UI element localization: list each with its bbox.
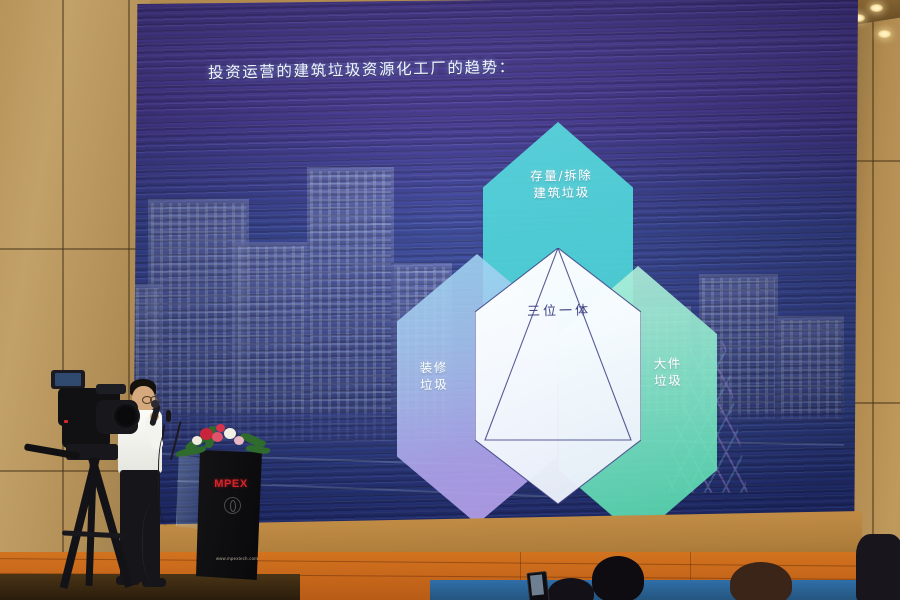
hexagon-top-label-line1: 存量/拆除 bbox=[530, 167, 592, 183]
camera-record-indicator bbox=[64, 420, 68, 423]
hexagon-diagram: 存量/拆除 建筑垃圾 装修 垃圾 大件 垃圾 三位一体 bbox=[391, 116, 721, 496]
hexagon-right-label-line1: 大件 bbox=[654, 356, 682, 371]
floor-cable bbox=[142, 500, 183, 586]
flower bbox=[200, 428, 213, 440]
photo-scene: 投资运营的建筑垃圾资源化工厂的趋势： 存量/拆除 建筑垃圾 装修 垃圾 bbox=[0, 0, 900, 600]
flower bbox=[192, 436, 202, 445]
podium-logo-icon bbox=[224, 497, 241, 514]
camera-lens bbox=[112, 402, 140, 430]
floor-carpet bbox=[430, 580, 900, 600]
gooseneck-mic-head bbox=[166, 410, 171, 422]
audience-head bbox=[548, 578, 594, 600]
smartphone-screen bbox=[530, 574, 544, 595]
audience-head bbox=[592, 556, 644, 600]
camera-viewfinder-screen bbox=[55, 373, 81, 386]
flower bbox=[234, 436, 244, 445]
flower bbox=[216, 424, 225, 432]
camera-handle bbox=[96, 384, 126, 394]
downlight-icon bbox=[870, 4, 883, 12]
flower bbox=[212, 432, 223, 442]
center-triangle-outline-icon bbox=[475, 248, 641, 504]
wall-seam bbox=[62, 0, 64, 600]
hexagon-left-label-line1: 装修 bbox=[420, 360, 448, 375]
building bbox=[778, 316, 843, 423]
downlight-icon bbox=[878, 30, 891, 38]
audience-head bbox=[730, 562, 792, 600]
microphone-head bbox=[151, 400, 159, 408]
wall-seam bbox=[872, 0, 874, 600]
hexagon-center-label: 三位一体 bbox=[499, 299, 619, 320]
hexagon-left-label-line2: 垃圾 bbox=[420, 377, 448, 392]
podium-brand-label: MPEX bbox=[208, 478, 254, 490]
hexagon-left-label: 装修 垃圾 bbox=[405, 359, 464, 394]
presentation-screen: 投资运营的建筑垃圾资源化工厂的趋势： 存量/拆除 建筑垃圾 装修 垃圾 bbox=[133, 0, 858, 530]
hexagon-top-label-line2: 建筑垃圾 bbox=[533, 184, 590, 200]
building bbox=[307, 167, 394, 445]
wall-seam bbox=[848, 402, 900, 404]
hexagon-right-label: 大件 垃圾 bbox=[639, 355, 698, 390]
hexagon-right-label-line2: 垃圾 bbox=[654, 373, 682, 388]
hexagon-top-label: 存量/拆除 建筑垃圾 bbox=[509, 167, 615, 203]
audience-head bbox=[856, 534, 900, 600]
podium-url-label: www.mpextech.com bbox=[208, 556, 266, 561]
screen-surface: 投资运营的建筑垃圾资源化工厂的趋势： 存量/拆除 建筑垃圾 装修 垃圾 bbox=[133, 0, 858, 530]
